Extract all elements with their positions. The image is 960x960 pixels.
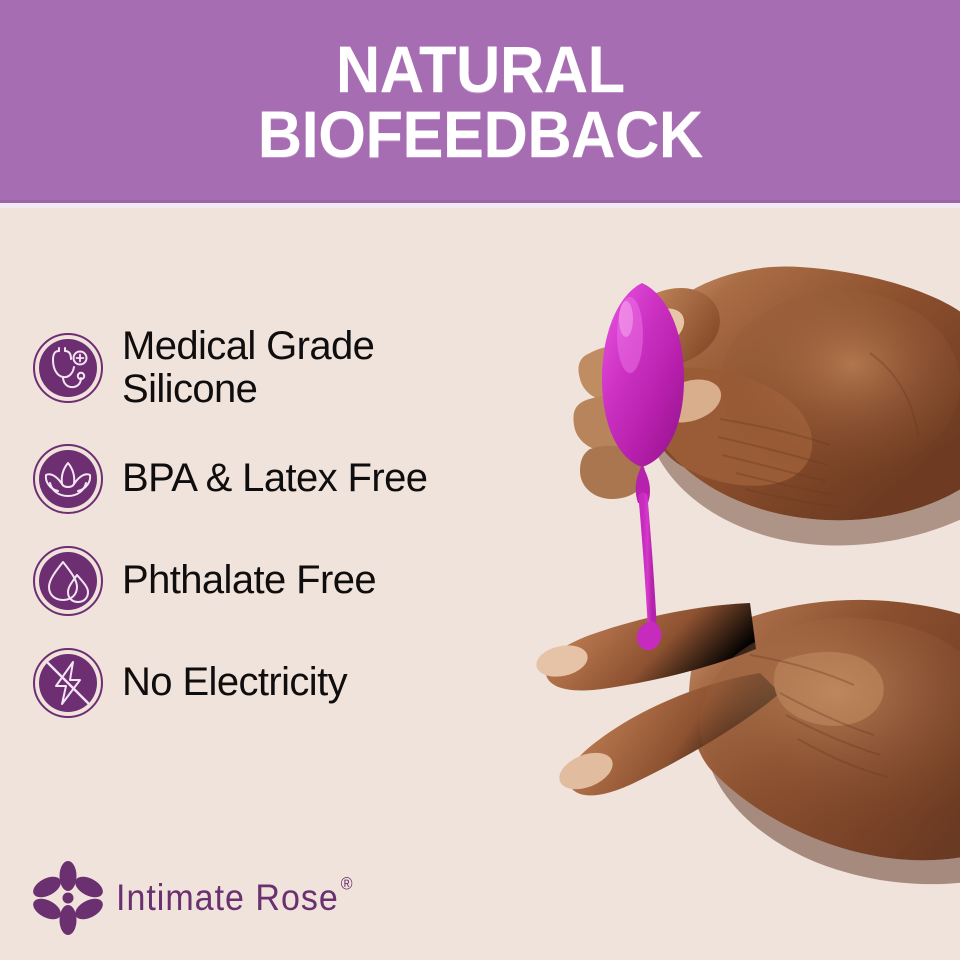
feature-list: Medical Grade Silicone BPA & Latex Free	[32, 325, 552, 749]
lotus-icon	[32, 443, 104, 515]
feature-item-no-electricity: No Electricity	[32, 647, 552, 719]
feature-label: No Electricity	[122, 661, 347, 704]
header-highlight-strip	[0, 203, 960, 208]
feature-item-phthalate-free: Phthalate Free	[32, 545, 552, 617]
headline-line-1: NATURAL	[257, 37, 702, 101]
feature-item-bpa-latex-free: BPA & Latex Free	[32, 443, 552, 515]
stethoscope-icon	[32, 332, 104, 404]
page-title: NATURAL BIOFEEDBACK	[257, 37, 702, 165]
registered-trademark-symbol: ®	[341, 874, 354, 892]
product-marketing-image: NATURAL BIOFEEDBACK	[0, 0, 960, 960]
header-banner: NATURAL BIOFEEDBACK	[0, 0, 960, 203]
kegel-ball-product	[580, 273, 720, 673]
feature-label: BPA & Latex Free	[122, 457, 427, 500]
feature-label: Phthalate Free	[122, 559, 376, 602]
headline-line-2: BIOFEEDBACK	[257, 102, 702, 166]
droplet-icon	[32, 545, 104, 617]
brand-logo[interactable]: Intimate Rose®	[30, 860, 352, 936]
feature-label: Medical Grade Silicone	[122, 325, 374, 411]
no-electricity-icon	[32, 647, 104, 719]
flower-icon	[30, 860, 106, 936]
brand-name: Intimate Rose®	[116, 877, 352, 919]
feature-item-medical-grade-silicone: Medical Grade Silicone	[32, 325, 552, 411]
brand-name-text: Intimate Rose	[116, 877, 339, 918]
